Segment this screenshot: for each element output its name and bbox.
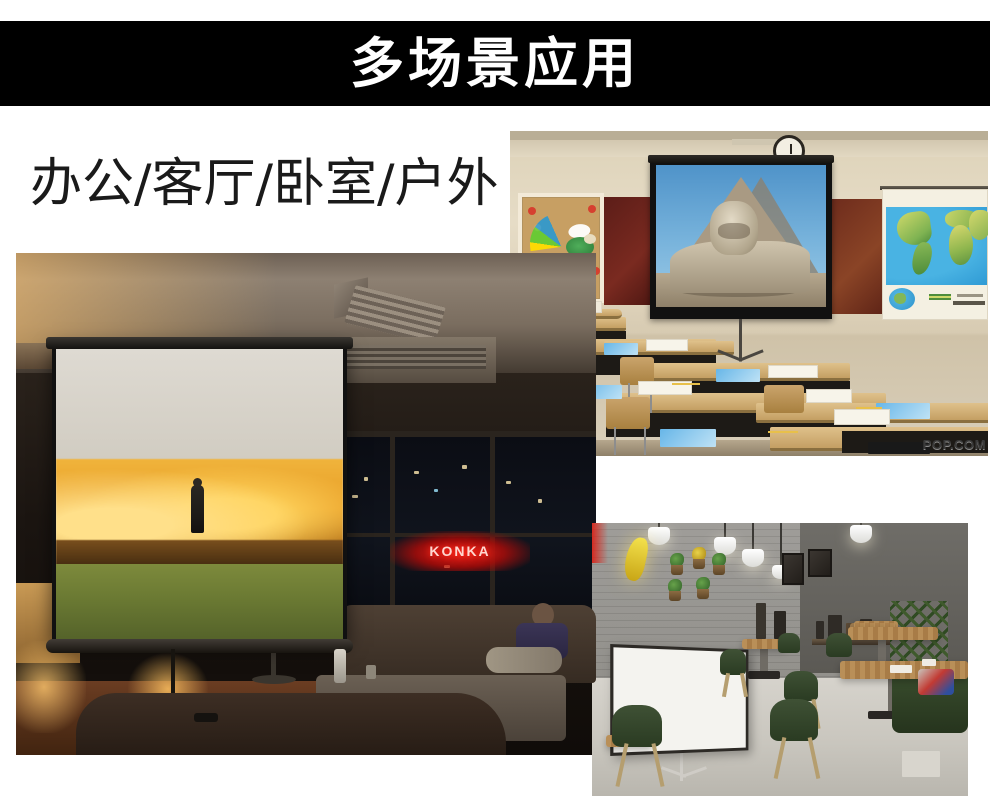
living-room-screen-bottom-bar [46,639,353,653]
classroom-chalkboard-left [604,197,654,305]
pendant-lamp-cord [752,523,754,551]
seated-viewer [486,603,578,685]
pendant-lamp-icon [648,527,670,545]
thermos-bottle [334,649,346,683]
living-room-screen-top-bar [46,337,353,349]
living-room-projection-screen [52,345,347,643]
world-map-poster [882,189,988,320]
map-caption-line [957,294,983,297]
cafe-floor-mat [902,751,940,777]
pendant-lamp-icon [850,525,872,543]
map-globe-inset [889,288,915,310]
remote-control [194,713,218,722]
cafe-napkin [922,659,936,666]
wall-picture-frame [782,553,804,585]
standing-fan-base [252,675,296,684]
movie-sky [56,349,343,477]
cafe-table-mid [848,627,938,640]
classroom-blue-book [660,429,716,447]
cafe-chair [826,633,852,657]
counter-item [816,621,824,639]
cafe-projection-screen-photo [592,523,968,796]
city-light [538,499,542,503]
projected-sphinx-image [656,165,826,307]
classroom-chalkboard-right [828,199,888,314]
air-vent-grille [336,345,486,369]
city-light [414,471,419,474]
ceiling-fixture-blades [344,285,445,345]
projected-movie-image [56,349,343,639]
clock-mount [732,139,780,145]
classroom-paper [768,365,818,378]
chair-leg [644,427,646,455]
cafe-table-pole [760,649,768,673]
ceiling-fixture [298,281,440,343]
classroom-pencil [768,431,798,433]
counter-item [756,603,766,639]
classroom-screen-top-bar [648,155,834,163]
header-banner: 多场景应用 [0,21,990,106]
rainbow-decoration-icon [526,209,592,251]
konka-neon-sign: KONKA [390,531,530,571]
watermark-text: POP.COM [923,437,986,452]
cafe-chair [778,633,800,653]
apple-decoration-icon [528,207,536,215]
movie-grass-ground [56,564,343,639]
map-legend [929,294,951,300]
classroom-paper [646,339,688,351]
cafe-table-base [748,671,780,679]
classroom-tripod-pole [739,319,742,361]
city-light [364,477,368,481]
movie-burnt-logs [56,540,343,566]
classroom-pencil [856,407,882,409]
watermark-bar [868,442,930,454]
classroom-blue-book [604,343,638,355]
city-light [462,465,467,469]
page-root: 多场景应用 办公/客厅/卧室/户外 [0,0,990,796]
viewer-legs [486,647,562,673]
apple-decoration-icon [588,205,596,213]
scenario-subtitle: 办公/客厅/卧室/户外 [30,156,499,213]
map-title-line [953,301,985,305]
neon-spill-light [592,523,608,563]
classroom-paper [806,389,852,403]
cafe-chair [770,699,818,741]
wall-plant-pot [671,565,683,575]
foreground-couch [76,693,506,755]
pendant-lamp-icon [742,549,764,567]
floor-lamp-glow [16,641,86,733]
classroom-chair [764,385,804,413]
cafe-table-pole [878,640,886,662]
living-room-projection-screen-photo: KONKA [16,253,596,755]
classroom-pencil [672,383,700,385]
wall-plant-pot [697,589,709,599]
classroom-paper [834,409,890,425]
classroom-chair [606,397,650,429]
wall-plant-pot [669,591,681,601]
cup [366,665,376,679]
classroom-projection-screen [650,159,832,319]
cafe-cushion [918,669,954,695]
cafe-chair [784,671,818,701]
city-light [352,495,358,498]
konka-neon-label: KONKA [429,543,490,559]
cafe-chair-foreground [612,705,662,747]
movie-character-silhouette [191,485,204,533]
wall-plant-pot [693,559,705,569]
page-title: 多场景应用 [350,37,640,91]
city-light [506,481,511,484]
map-asia [969,210,988,240]
cafe-chair [720,649,746,675]
chair-leg [614,427,616,455]
city-light [434,489,438,492]
wall-picture-frame [808,549,832,577]
sphinx-head [710,201,758,255]
cafe-napkin [890,665,912,673]
wall-plant-pot [713,565,725,575]
classroom-blue-book [716,369,760,382]
